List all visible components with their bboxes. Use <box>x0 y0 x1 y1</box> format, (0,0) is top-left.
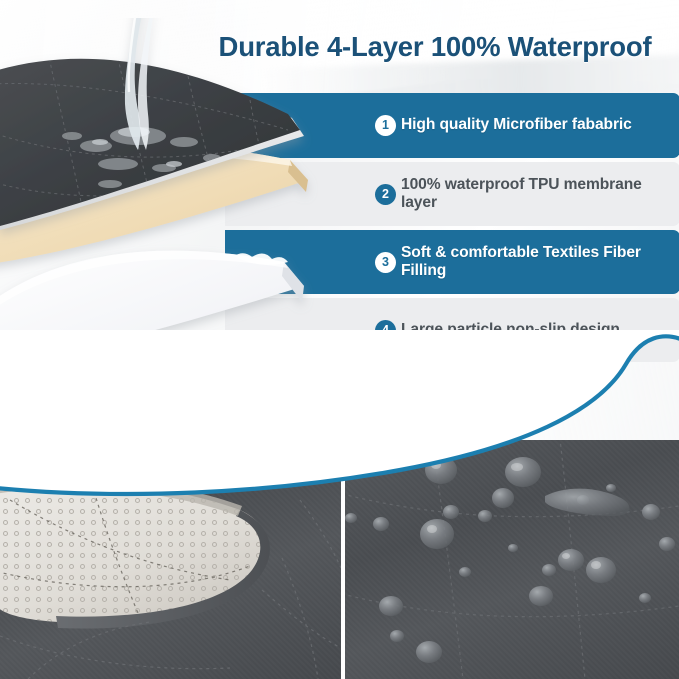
panel-separator <box>341 455 345 679</box>
bottom-photo-row: Premium Fabric <box>0 440 679 679</box>
feature-label: Soft & comfortable Textiles Fiber Fillin… <box>401 244 679 280</box>
feature-label: Large particle non-slip design <box>401 321 620 339</box>
water-beading-photo: One hour later <box>345 440 679 679</box>
fiber-filling-layer <box>0 251 304 366</box>
non-slip-bottom-layer <box>0 361 290 448</box>
product-infographic: 1 High quality Microfiber fababric 2 100… <box>0 0 679 679</box>
folded-corner-illustration <box>0 440 341 679</box>
water-droplets-illustration <box>345 440 679 679</box>
premium-fabric-photo: Premium Fabric <box>0 440 341 679</box>
feature-label: 100% waterproof TPU membrane layer <box>401 176 679 212</box>
feature-label: High quality Microfiber fababric <box>401 116 632 134</box>
exploded-layer-diagram <box>0 18 418 448</box>
